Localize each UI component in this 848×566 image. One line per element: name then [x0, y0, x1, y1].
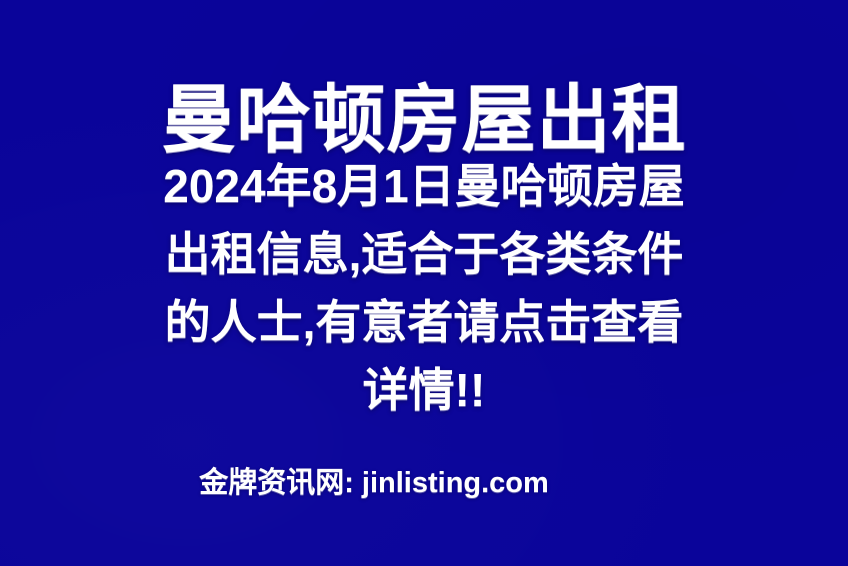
site-credit: 金牌资讯网: jinlisting.com: [0, 464, 848, 502]
page-title: 曼哈顿房屋出租: [0, 80, 848, 160]
ad-body-text: 2024年8月1日曼哈顿房屋 出租信息,适合于各类条件 的人士,有意者请点击查看…: [74, 152, 774, 424]
poster-content: 曼哈顿房屋出租 2024年8月1日曼哈顿房屋 出租信息,适合于各类条件 的人士,…: [0, 0, 848, 566]
body-line-1: 2024年8月1日曼哈顿房屋: [74, 152, 774, 220]
body-line-4: 详情!!: [74, 356, 774, 424]
rental-ad-poster: 曼哈顿房屋出租 2024年8月1日曼哈顿房屋 出租信息,适合于各类条件 的人士,…: [0, 0, 848, 566]
site-credit-text: 金牌资讯网: jinlisting.com: [199, 467, 549, 499]
body-line-2: 出租信息,适合于各类条件: [74, 220, 774, 288]
body-line-3: 的人士,有意者请点击查看: [74, 288, 774, 356]
